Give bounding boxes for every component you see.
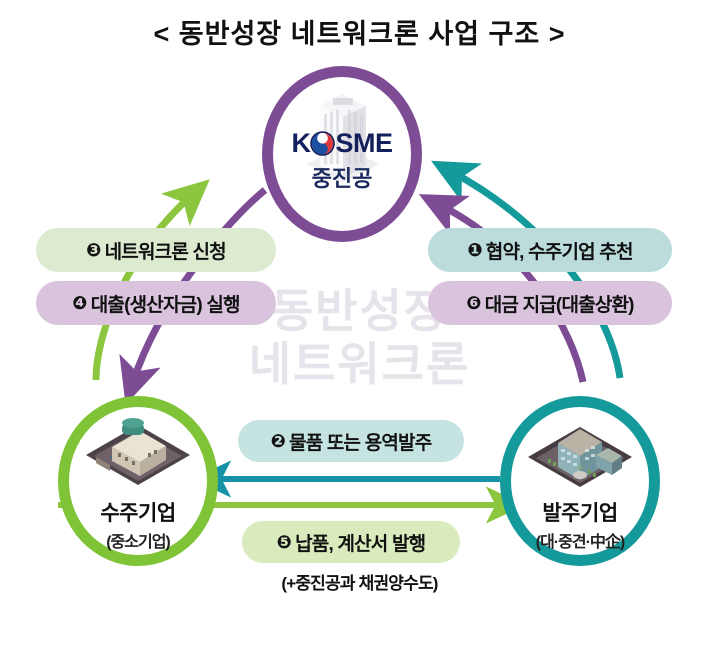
footnote: (+중진공과 채권양수도) (0, 569, 719, 594)
office-building-icon (524, 417, 636, 493)
step-marker-1: ❶ (467, 240, 481, 261)
diagram-canvas: < 동반성장 네트워크론 사업 구조 > 동반성장 네트워크론 (0, 0, 719, 655)
node-kosme[interactable]: K SME 중진공 (262, 66, 422, 242)
taegeuk-icon (310, 131, 335, 156)
step-marker-3: ❸ (86, 240, 100, 261)
step-text-4: 대출(생산자금) 실행 (91, 290, 240, 317)
step-label-4: ❹ 대출(생산자금) 실행 (36, 281, 276, 325)
step-label-1: ❶ 협약, 수주기업 추천 (428, 228, 672, 272)
step-marker-2: ❷ (271, 431, 285, 452)
step-text-3: 네트워크론 신청 (105, 237, 226, 264)
step-marker-6: ❻ (466, 293, 480, 314)
kosme-logo-sme: SME (335, 130, 392, 157)
step-text-2: 물품 또는 용역발주 (289, 428, 431, 455)
arrow-teal-up (452, 172, 620, 378)
step-label-6: ❻ 대금 지급(대출상환) (428, 281, 672, 325)
node-buyer-subtitle: (대·중견·中企) (536, 528, 624, 552)
step-text-5: 납품, 계산서 발행 (295, 529, 425, 556)
node-buyer[interactable]: 발주기업 (대·중견·中企) (500, 396, 660, 566)
kosme-logo: K SME (291, 130, 392, 157)
step-label-5: ❺ 납품, 계산서 발행 (242, 521, 460, 563)
node-supplier-title: 수주기업 (100, 497, 175, 527)
factory-building-icon (82, 417, 194, 493)
node-buyer-title: 발주기업 (542, 497, 617, 527)
step-text-6: 대금 지급(대출상환) (485, 290, 634, 317)
step-text-1: 협약, 수주기업 추천 (486, 237, 633, 264)
kosme-logo-k: K (291, 130, 310, 157)
node-supplier-subtitle: (중소기업) (106, 528, 170, 552)
node-supplier[interactable]: 수주기업 (중소기업) (58, 396, 218, 566)
step-label-3: ❸ 네트워크론 신청 (36, 228, 276, 272)
node-kosme-label: 중진공 (312, 161, 373, 193)
step-label-2: ❷ 물품 또는 용역발주 (238, 420, 464, 462)
step-marker-4: ❹ (72, 293, 86, 314)
step-marker-5: ❺ (277, 532, 291, 553)
